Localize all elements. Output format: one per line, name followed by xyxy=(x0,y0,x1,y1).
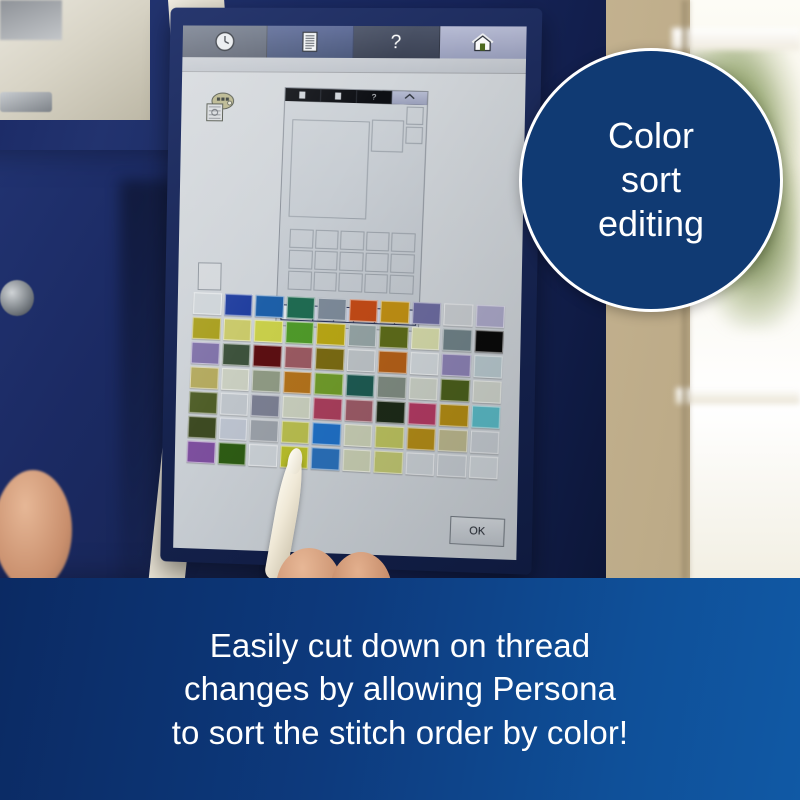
color-swatch[interactable] xyxy=(374,426,404,450)
color-swatch[interactable] xyxy=(407,402,437,426)
color-swatch[interactable] xyxy=(249,419,278,442)
color-swatch[interactable] xyxy=(192,317,221,340)
badge-line-2: sort xyxy=(598,158,704,202)
machine-metal-plate xyxy=(0,0,62,40)
color-swatch[interactable] xyxy=(439,404,469,428)
color-swatch[interactable] xyxy=(377,376,407,399)
badge-line-3: editing xyxy=(598,202,704,246)
feature-badge-text: Color sort editing xyxy=(598,114,704,246)
grid-cell[interactable] xyxy=(314,251,338,271)
color-swatch[interactable] xyxy=(376,401,406,424)
color-swatch[interactable] xyxy=(316,323,345,346)
caption-line-2: changes by allowing Persona xyxy=(172,667,628,711)
color-swatch[interactable] xyxy=(410,327,440,350)
caption-text: Easily cut down on thread changes by all… xyxy=(150,624,650,755)
home-icon xyxy=(471,32,496,52)
color-swatch[interactable] xyxy=(311,447,340,470)
color-swatch[interactable] xyxy=(317,298,346,321)
color-swatch[interactable] xyxy=(345,374,374,397)
grid-cell[interactable] xyxy=(315,230,339,250)
color-swatch[interactable] xyxy=(224,294,253,317)
color-swatch[interactable] xyxy=(255,295,284,318)
dialog-tab-document[interactable] xyxy=(321,89,357,103)
color-swatch[interactable] xyxy=(342,449,371,473)
color-swatch[interactable] xyxy=(405,452,435,476)
badge-line-1: Color xyxy=(598,114,704,158)
color-swatch[interactable] xyxy=(343,424,372,447)
dialog-body xyxy=(276,101,427,330)
color-swatch[interactable] xyxy=(312,422,341,445)
color-swatch[interactable] xyxy=(408,377,438,401)
window-sill xyxy=(676,388,800,404)
caption-banner: Easily cut down on thread changes by all… xyxy=(0,578,800,800)
color-swatch[interactable] xyxy=(186,441,215,464)
ok-button[interactable]: OK xyxy=(449,516,505,547)
embroidery-design-dialog[interactable]: ? xyxy=(275,87,428,332)
empty-square-button[interactable] xyxy=(198,262,222,290)
grid-cell[interactable] xyxy=(390,254,414,274)
color-swatch[interactable] xyxy=(344,399,373,422)
clock-icon xyxy=(300,91,306,98)
color-swatch[interactable] xyxy=(191,342,220,365)
dialog-button-grid[interactable] xyxy=(288,229,416,295)
touchscreen-display[interactable]: ? xyxy=(173,25,527,560)
grid-cell[interactable] xyxy=(364,274,388,294)
color-swatch[interactable] xyxy=(468,456,498,480)
screen-toolbar: ? xyxy=(182,25,526,58)
color-swatch[interactable] xyxy=(283,371,312,394)
color-swatch[interactable] xyxy=(412,302,442,325)
grid-cell[interactable] xyxy=(288,271,312,291)
color-swatch[interactable] xyxy=(441,354,471,378)
color-swatch[interactable] xyxy=(222,343,251,366)
grid-cell[interactable] xyxy=(365,253,389,273)
toolbar-tab-clock[interactable] xyxy=(182,25,267,57)
color-swatch[interactable] xyxy=(437,454,467,478)
color-swatch[interactable] xyxy=(253,345,282,368)
toolbar-tab-home[interactable] xyxy=(440,26,527,59)
color-swatch[interactable] xyxy=(473,355,503,379)
color-swatch[interactable] xyxy=(378,351,408,374)
color-swatch[interactable] xyxy=(474,330,504,354)
color-swatch[interactable] xyxy=(217,442,246,465)
color-swatch[interactable] xyxy=(438,429,468,453)
color-swatch[interactable] xyxy=(346,349,375,372)
color-swatch[interactable] xyxy=(223,318,252,341)
grid-cell[interactable] xyxy=(340,231,364,251)
color-swatch[interactable] xyxy=(406,427,436,451)
color-swatch[interactable] xyxy=(286,296,315,319)
color-swatch[interactable] xyxy=(188,416,217,439)
grid-cell[interactable] xyxy=(390,275,414,295)
toolbar-tab-help[interactable]: ? xyxy=(353,26,440,58)
color-swatch[interactable] xyxy=(409,352,439,375)
document-icon xyxy=(301,31,319,53)
color-swatch[interactable] xyxy=(472,380,502,404)
color-swatch[interactable] xyxy=(379,325,409,348)
grid-cell[interactable] xyxy=(289,229,313,249)
clock-icon xyxy=(214,31,236,53)
color-swatch[interactable] xyxy=(282,396,311,419)
color-swatch[interactable] xyxy=(221,368,250,391)
design-thumb-small[interactable] xyxy=(405,127,423,145)
color-swatch[interactable] xyxy=(254,320,283,343)
screenshot-root: ? xyxy=(0,0,800,800)
color-swatch[interactable] xyxy=(348,299,377,322)
grid-cell[interactable] xyxy=(313,272,337,292)
color-swatch[interactable] xyxy=(219,393,248,416)
color-swatch[interactable] xyxy=(313,397,342,420)
grid-cell[interactable] xyxy=(366,232,390,252)
design-thumb-large[interactable] xyxy=(371,120,404,153)
screen-canvas[interactable]: ? xyxy=(173,72,526,560)
caption-line-3: to sort the stitch order by color! xyxy=(172,711,628,755)
caption-line-1: Easily cut down on thread xyxy=(172,624,628,668)
toolbar-tab-document[interactable] xyxy=(267,26,353,58)
machine-metal-tab xyxy=(0,92,52,112)
design-preview-area[interactable] xyxy=(288,119,370,219)
color-swatch[interactable] xyxy=(470,431,500,455)
color-swatch[interactable] xyxy=(315,348,344,371)
color-swatch[interactable] xyxy=(248,444,277,467)
grid-cell[interactable] xyxy=(288,250,312,270)
feature-badge: Color sort editing xyxy=(519,48,783,312)
grid-cell[interactable] xyxy=(391,233,415,253)
dialog-tab-clock[interactable] xyxy=(285,88,321,102)
color-swatch[interactable] xyxy=(347,324,376,347)
color-swatch[interactable] xyxy=(373,451,403,475)
question-mark-icon: ? xyxy=(390,33,401,52)
color-swatch[interactable] xyxy=(314,372,343,395)
dialog-tab-home[interactable] xyxy=(392,91,427,105)
color-swatch[interactable] xyxy=(190,366,219,389)
color-swatch[interactable] xyxy=(193,292,222,315)
color-swatch[interactable] xyxy=(284,346,313,369)
color-swatch[interactable] xyxy=(475,305,505,328)
color-swatch[interactable] xyxy=(189,391,218,414)
color-swatch[interactable] xyxy=(250,394,279,417)
grid-cell[interactable] xyxy=(338,273,362,293)
design-thumb-top[interactable] xyxy=(406,107,424,126)
dialog-tab-help[interactable]: ? xyxy=(356,90,392,104)
grid-cell[interactable] xyxy=(339,252,363,272)
color-swatch[interactable] xyxy=(380,300,410,323)
machine-hinge xyxy=(0,280,34,316)
question-mark-icon: ? xyxy=(371,93,376,101)
touchscreen-bezel: ? xyxy=(160,8,542,575)
color-swatch[interactable] xyxy=(251,369,280,392)
color-swatch[interactable] xyxy=(440,379,470,403)
color-swatch-palette[interactable] xyxy=(186,292,505,479)
color-swatch[interactable] xyxy=(218,417,247,440)
document-icon xyxy=(335,92,341,99)
color-swatch[interactable] xyxy=(443,303,473,326)
color-swatch[interactable] xyxy=(471,405,501,429)
color-swatch[interactable] xyxy=(280,421,309,444)
color-palette-icon[interactable] xyxy=(203,92,237,124)
color-swatch[interactable] xyxy=(442,328,472,351)
color-swatch[interactable] xyxy=(285,321,314,344)
